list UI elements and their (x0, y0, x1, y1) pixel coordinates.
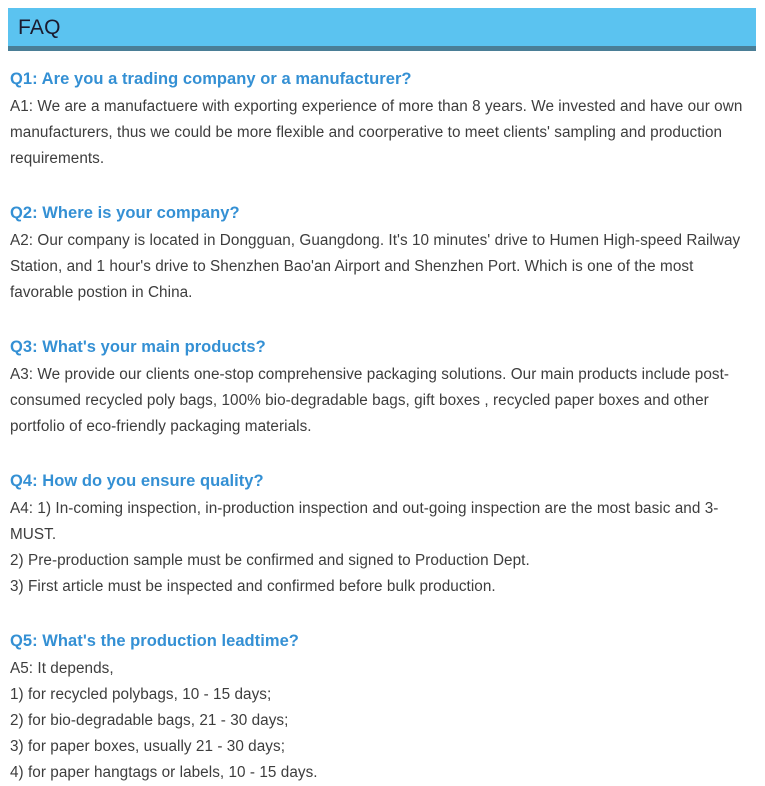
faq-answer: A5: It depends,1) for recycled polybags,… (10, 656, 755, 786)
faq-question: Q4: How do you ensure quality? (10, 468, 755, 494)
faq-answer-line: 3) First article must be inspected and c… (10, 574, 755, 600)
faq-list: Q1: Are you a trading company or a manuf… (10, 66, 755, 786)
faq-answer-line: A1: We are a manufactuere with exporting… (10, 94, 755, 172)
faq-answer-line: 2) for bio-degradable bags, 21 - 30 days… (10, 708, 755, 734)
faq-answer: A4: 1) In-coming inspection, in-producti… (10, 496, 755, 600)
faq-answer-line: 4) for paper hangtags or labels, 10 - 15… (10, 760, 755, 786)
faq-answer: A1: We are a manufactuere with exporting… (10, 94, 755, 172)
faq-answer-line: 2) Pre-production sample must be confirm… (10, 548, 755, 574)
faq-banner: FAQ (8, 8, 756, 51)
faq-answer-line: A5: It depends, (10, 656, 755, 682)
faq-question: Q3: What's your main products? (10, 334, 755, 360)
faq-page: FAQ Q1: Are you a trading company or a m… (0, 0, 765, 748)
faq-item: Q2: Where is your company?A2: Our compan… (10, 200, 755, 306)
faq-item: Q1: Are you a trading company or a manuf… (10, 66, 755, 172)
faq-question: Q2: Where is your company? (10, 200, 755, 226)
faq-item: Q5: What's the production leadtime?A5: I… (10, 628, 755, 786)
faq-answer-line: A2: Our company is located in Dongguan, … (10, 228, 755, 306)
faq-item: Q4: How do you ensure quality?A4: 1) In-… (10, 468, 755, 600)
faq-question: Q1: Are you a trading company or a manuf… (10, 66, 755, 92)
faq-answer-line: 1) for recycled polybags, 10 - 15 days; (10, 682, 755, 708)
faq-answer: A2: Our company is located in Dongguan, … (10, 228, 755, 306)
faq-answer-line: A3: We provide our clients one-stop comp… (10, 362, 755, 440)
faq-answer-line: A4: 1) In-coming inspection, in-producti… (10, 496, 755, 548)
faq-answer-line: 3) for paper boxes, usually 21 - 30 days… (10, 734, 755, 760)
faq-question: Q5: What's the production leadtime? (10, 628, 755, 654)
faq-answer: A3: We provide our clients one-stop comp… (10, 362, 755, 440)
faq-item: Q3: What's your main products?A3: We pro… (10, 334, 755, 440)
page-title: FAQ (18, 17, 61, 38)
